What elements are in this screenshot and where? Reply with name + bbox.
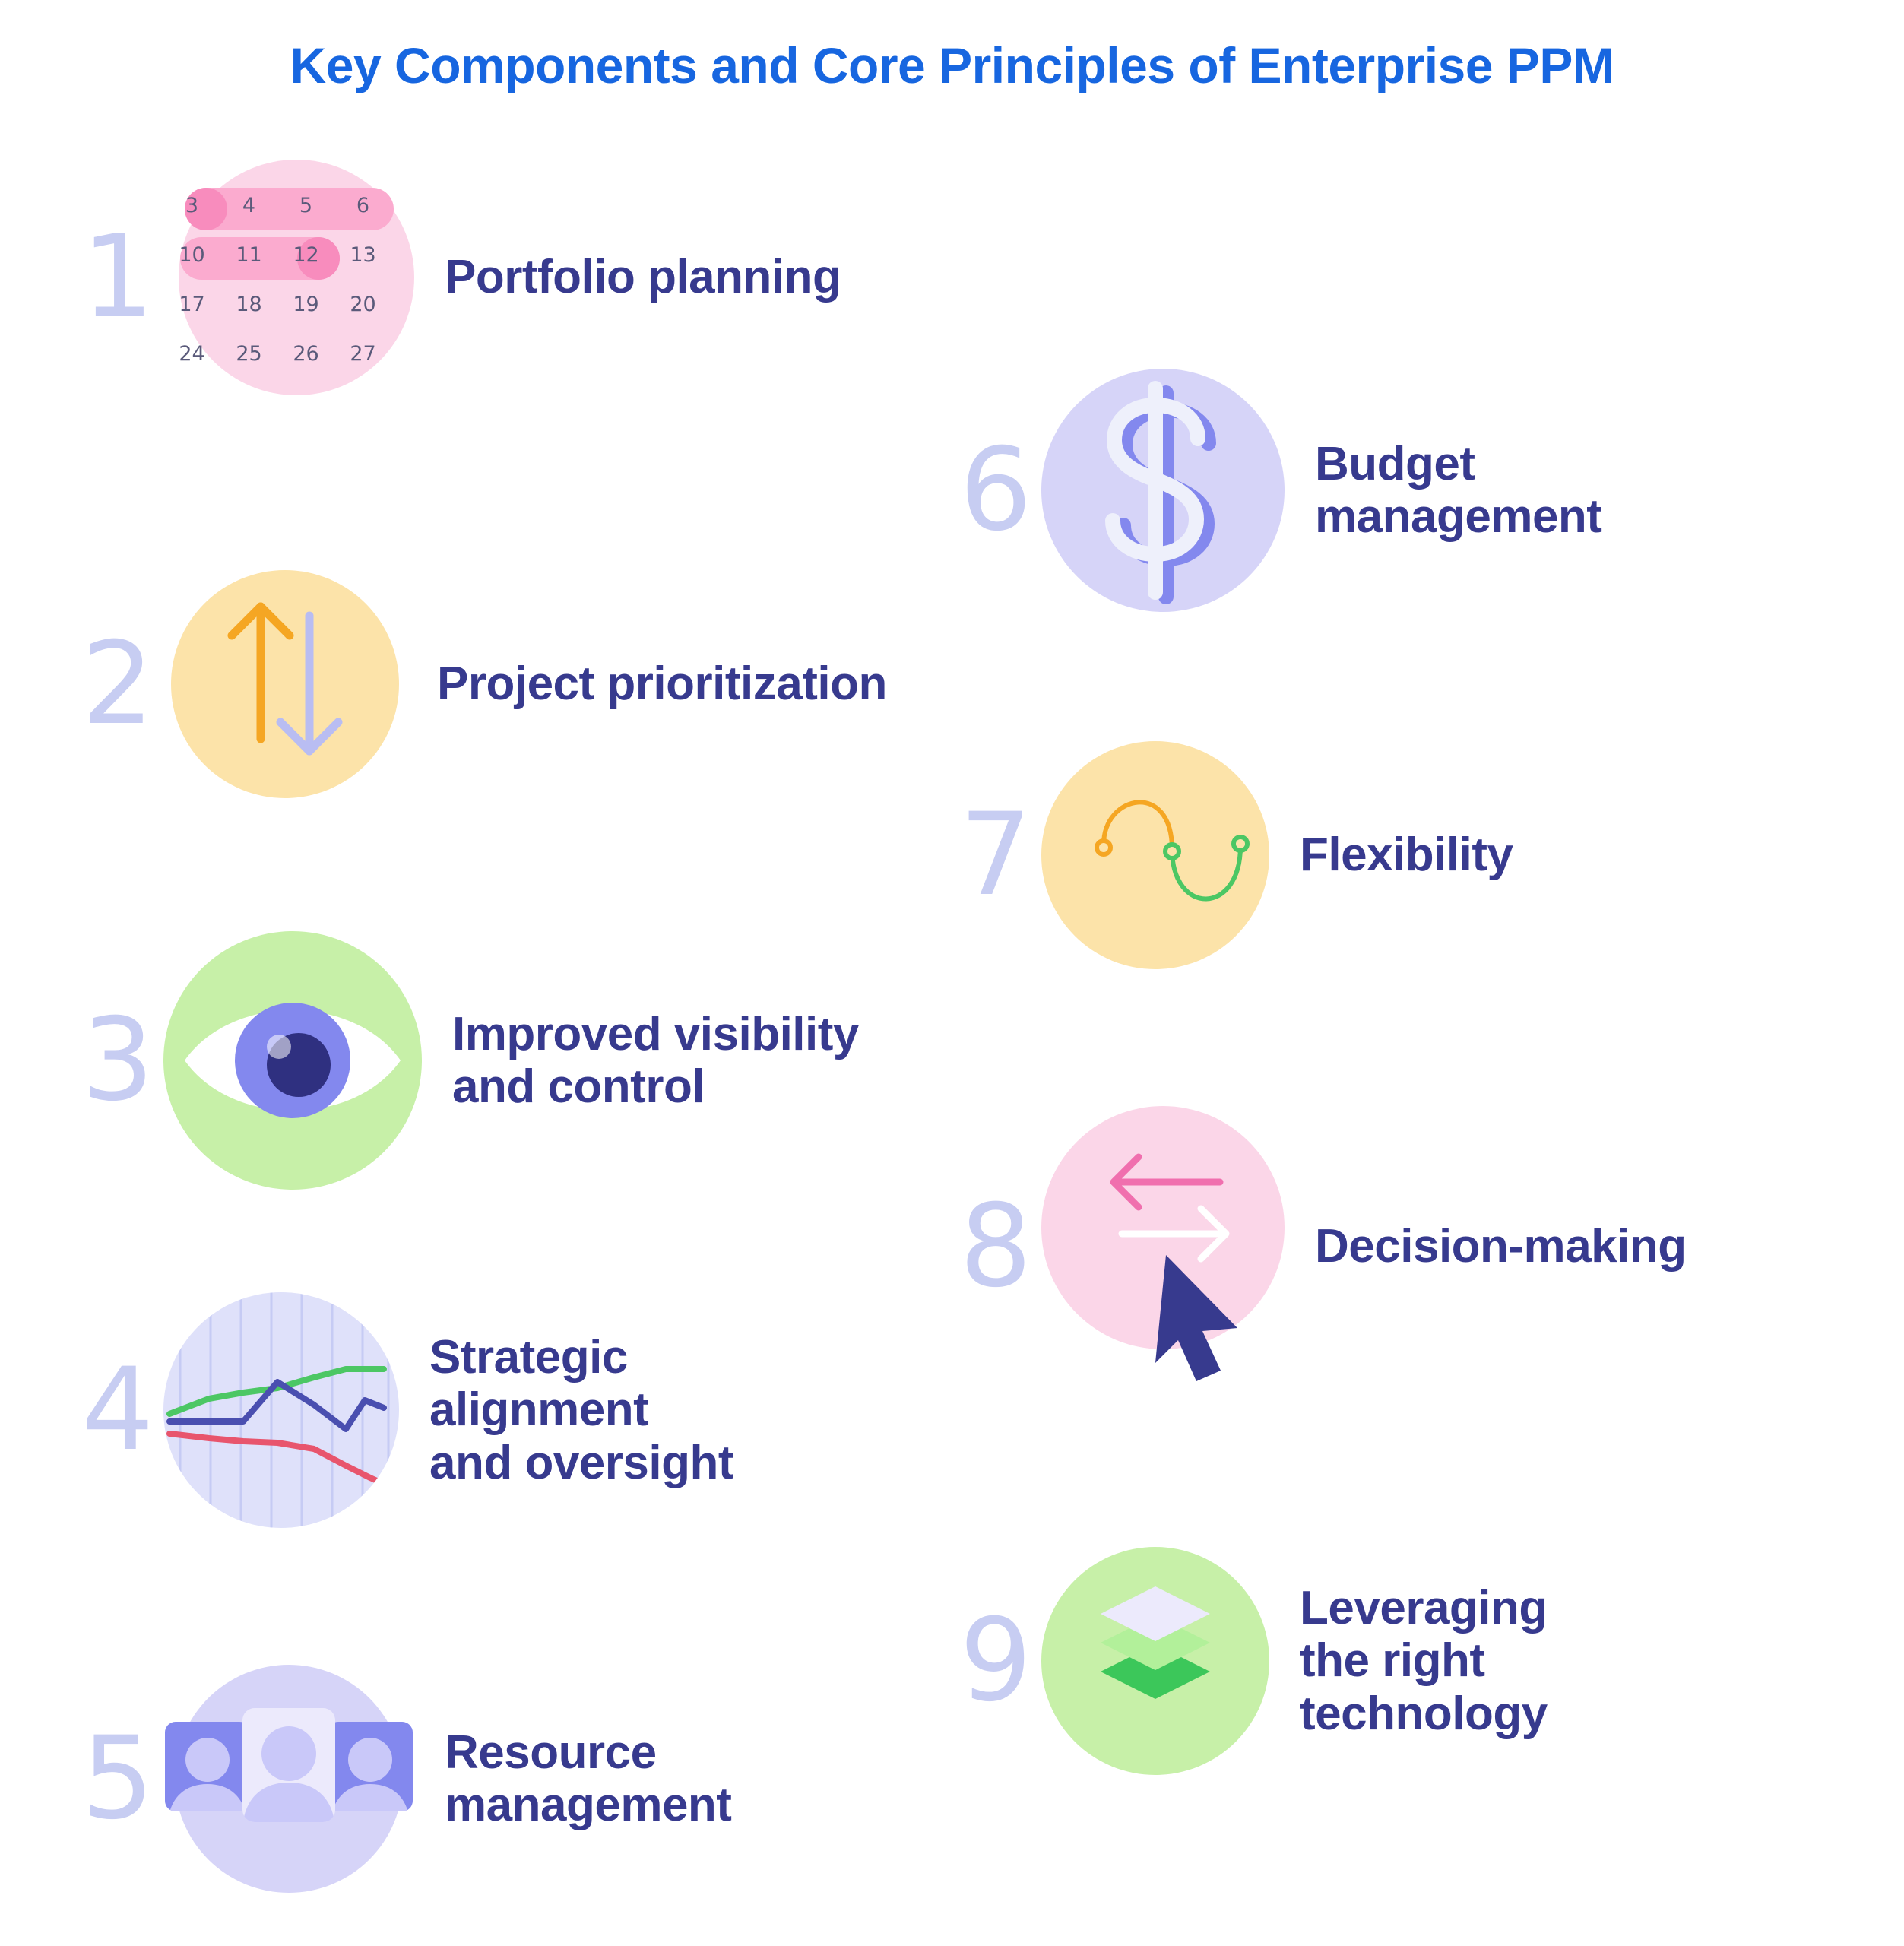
item-number: 6	[950, 433, 1041, 547]
calendar-day: 5	[277, 181, 334, 230]
calendar-day: 10	[163, 230, 220, 280]
calendar-day: 13	[334, 230, 391, 280]
item-leveraging-technology[interactable]: 9 Leveraging the right technology	[950, 1547, 1548, 1775]
calendar-day: 19	[277, 280, 334, 329]
calendar-day: 6	[334, 181, 391, 230]
item-strategic-alignment[interactable]: 4	[72, 1292, 733, 1528]
eye-icon	[163, 931, 422, 1190]
item-label: Strategic alignment and oversight	[429, 1331, 733, 1489]
item-number: 5	[72, 1722, 163, 1836]
item-decision-making[interactable]: 8 Decision-making	[950, 1106, 1687, 1387]
item-label: Resource management	[445, 1726, 731, 1832]
item-project-prioritization[interactable]: 2 Project prioritization	[72, 563, 887, 806]
s-curve-icon	[1041, 741, 1269, 969]
item-number: 8	[950, 1190, 1041, 1304]
dollar-sign-icon	[1041, 369, 1285, 612]
item-budget-management[interactable]: 6 Budget management	[950, 369, 1601, 612]
item-label: Leveraging the right technology	[1300, 1582, 1548, 1740]
item-label: Portfolio planning	[445, 251, 841, 303]
calendar-icon: 3 4 5 6 10 11 12 13 17 18 19 20 24 25 26…	[163, 152, 414, 403]
item-number: 7	[950, 798, 1041, 912]
item-number: 1	[72, 220, 163, 334]
item-label: Project prioritization	[437, 658, 887, 710]
item-number: 4	[72, 1353, 163, 1467]
page-title: Key Components and Core Principles of En…	[0, 36, 1904, 94]
item-number: 9	[950, 1604, 1041, 1718]
calendar-day: 27	[334, 329, 391, 379]
item-label: Improved visibility and control	[452, 1008, 859, 1114]
layers-stack-icon	[1041, 1547, 1269, 1775]
up-down-arrows-icon	[163, 563, 407, 806]
calendar-day: 24	[163, 329, 220, 379]
exchange-arrows-cursor-icon	[1041, 1106, 1285, 1387]
calendar-day: 26	[277, 329, 334, 379]
calendar-day: 11	[220, 230, 277, 280]
item-improved-visibility[interactable]: 3 Improved visibility and control	[72, 931, 859, 1190]
item-flexibility[interactable]: 7 Flexibility	[950, 741, 1513, 969]
item-portfolio-planning[interactable]: 1 3 4 5 6 10 11 12 13 17 18 19 20 24 25	[72, 152, 841, 403]
calendar-day: 4	[220, 181, 277, 230]
item-label: Decision-making	[1315, 1220, 1687, 1273]
item-number: 2	[72, 627, 163, 741]
calendar-day: 18	[220, 280, 277, 329]
line-chart-icon	[163, 1292, 399, 1528]
calendar-day: 25	[220, 329, 277, 379]
item-resource-management[interactable]: 5	[72, 1653, 731, 1904]
item-label: Budget management	[1315, 438, 1601, 544]
calendar-day: 3	[163, 181, 220, 230]
item-number: 3	[72, 1003, 163, 1117]
calendar-day: 17	[163, 280, 220, 329]
calendar-day: 12	[277, 230, 334, 280]
people-group-icon	[163, 1653, 414, 1904]
calendar-day: 20	[334, 280, 391, 329]
calendar-grid: 3 4 5 6 10 11 12 13 17 18 19 20 24 25 26…	[163, 181, 391, 379]
item-label: Flexibility	[1300, 829, 1513, 881]
